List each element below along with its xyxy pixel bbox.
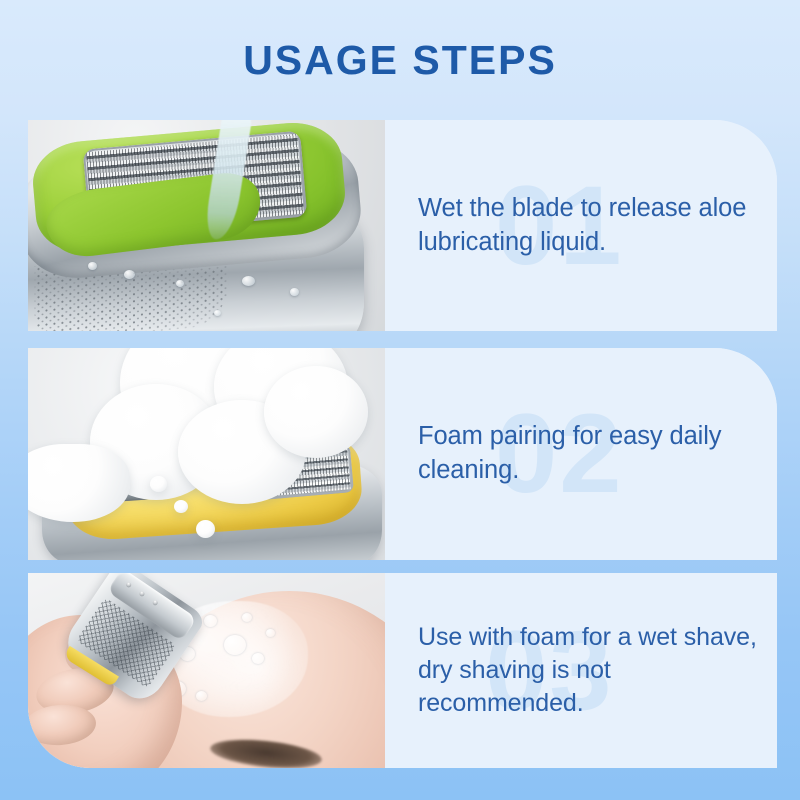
step-3-photo [28,573,385,768]
step-2-photo [28,348,385,560]
page-title: USAGE STEPS [243,37,557,84]
foam-blob [196,520,215,538]
step-2-description: Foam pairing for easy daily cleaning. [385,420,777,488]
step-1-photo [28,120,385,331]
foam-blob [28,444,130,522]
foam-bubble [196,691,207,701]
water-droplet [214,310,221,316]
step-1-text-panel: 01 Wet the blade to release aloe lubrica… [385,120,777,331]
water-droplet [290,288,299,296]
step-3-description: Use with foam for a wet shave, dry shavi… [385,621,777,720]
water-droplet [176,280,184,287]
foam-blob [174,500,188,513]
step-1-description: Wet the blade to release aloe lubricatin… [385,192,777,260]
header: USAGE STEPS [0,0,800,120]
foam-blob [264,366,368,458]
step-card-2: 02 Foam pairing for easy daily cleaning. [28,348,777,560]
foam-blob [150,476,167,492]
foam-bubble [266,629,275,637]
water-droplet [124,270,135,279]
step-2-text-panel: 02 Foam pairing for easy daily cleaning. [385,348,777,560]
foam-bubble [242,613,252,622]
foam-bubble [224,635,246,655]
step-card-1: 01 Wet the blade to release aloe lubrica… [28,120,777,331]
step-3-text-panel: 03 Use with foam for a wet shave, dry sh… [385,573,777,768]
water-droplet [88,262,97,270]
water-droplet [242,276,255,286]
step-card-3: 03 Use with foam for a wet shave, dry sh… [28,573,777,768]
foam-bubble [252,653,264,664]
